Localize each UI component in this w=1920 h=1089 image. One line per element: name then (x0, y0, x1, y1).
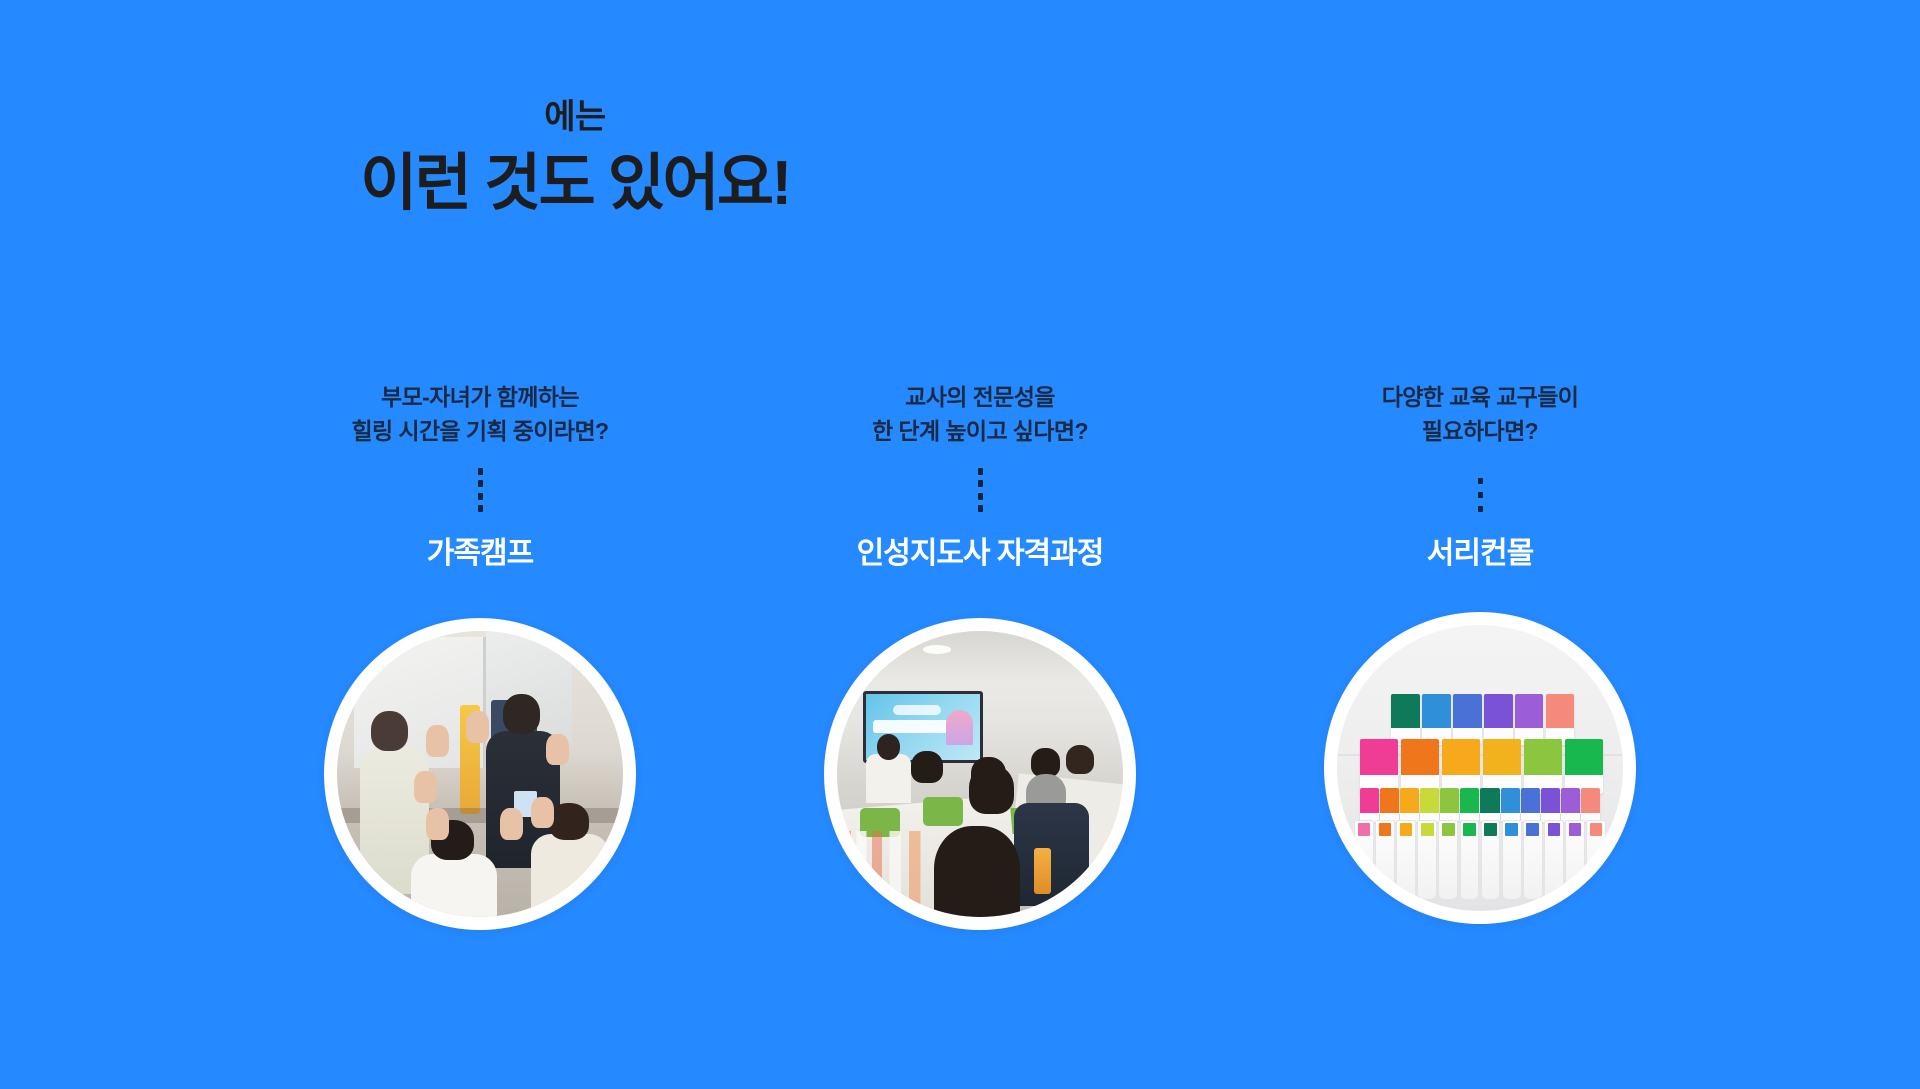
dash-segment (978, 468, 983, 475)
education-materials-photo[interactable] (1337, 625, 1623, 911)
photo-ring[interactable] (824, 618, 1136, 930)
feature-column-teacher-course[interactable]: 교사의 전문성을 한 단계 높이고 싶다면? 인성지도사 자격과정 (770, 380, 1190, 930)
dash-segment (978, 480, 983, 487)
dash-segment (478, 493, 483, 500)
column-question: 다양한 교육 교구들이 필요하다면? (1382, 380, 1579, 448)
page-heading: 에는 이런 것도 있어요! (0, 96, 1150, 220)
dash-segment (478, 480, 483, 487)
family-camp-photo[interactable] (337, 631, 623, 917)
teacher-training-seminar-photo[interactable] (837, 631, 1123, 917)
photo-ring[interactable] (324, 618, 636, 930)
dash-segment (978, 505, 983, 512)
dash-segment (1478, 478, 1483, 484)
column-title[interactable]: 인성지도사 자격과정 (857, 536, 1104, 572)
column-title[interactable]: 가족캠프 (427, 536, 533, 572)
feature-column-shop[interactable]: 다양한 교육 교구들이 필요하다면? 서리컨몰 (1270, 380, 1690, 924)
dash-segment (1478, 492, 1483, 498)
dashed-connector-icon (478, 468, 483, 512)
dash-segment (478, 468, 483, 475)
dashed-connector-icon (978, 468, 983, 512)
column-question: 교사의 전문성을 한 단계 높이고 싶다면? (872, 380, 1088, 448)
promo-section: 에는 이런 것도 있어요! 부모-자녀가 함께하는 힐링 시간을 기획 중이라면… (0, 0, 1920, 1089)
dash-segment (978, 493, 983, 500)
column-question: 부모-자녀가 함께하는 힐링 시간을 기획 중이라면? (352, 380, 609, 448)
photo-ring[interactable] (1324, 612, 1636, 924)
heading-eyebrow: 에는 (0, 96, 1150, 139)
dashed-connector-icon (1478, 478, 1483, 512)
column-title[interactable]: 서리컨몰 (1427, 536, 1533, 572)
feature-columns: 부모-자녀가 함께하는 힐링 시간을 기획 중이라면? 가족캠프 (270, 380, 1690, 930)
feature-column-family-camp[interactable]: 부모-자녀가 함께하는 힐링 시간을 기획 중이라면? 가족캠프 (270, 380, 690, 930)
dash-segment (1478, 506, 1483, 512)
page-title: 이런 것도 있어요! (0, 147, 1150, 220)
dash-segment (478, 505, 483, 512)
